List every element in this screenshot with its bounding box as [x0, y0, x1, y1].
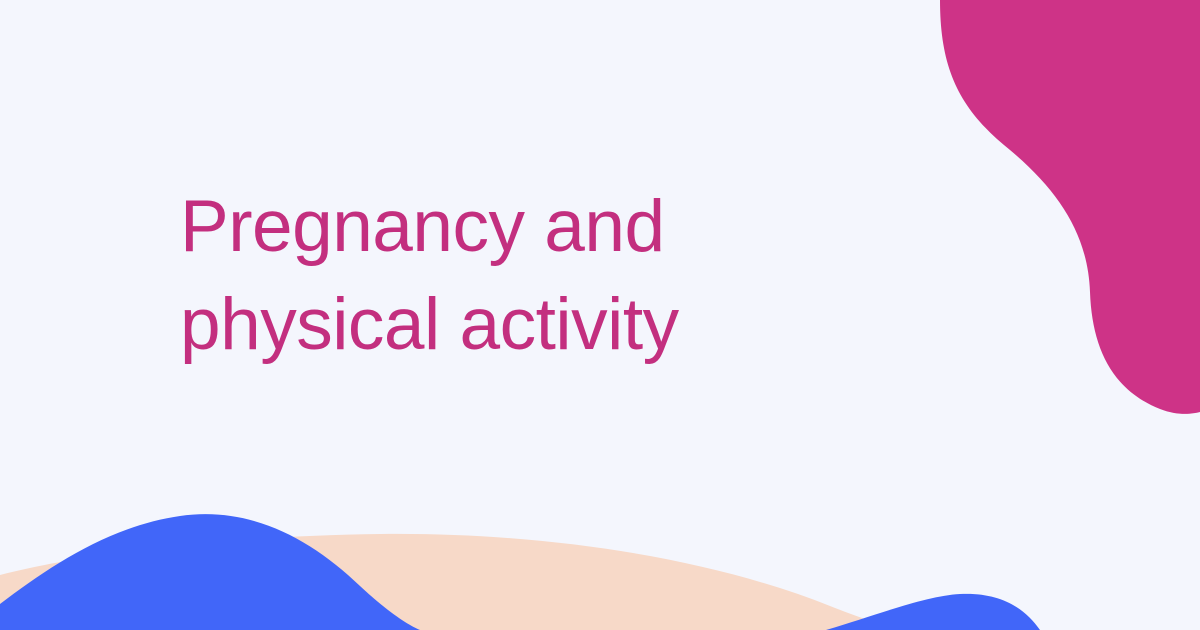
- blue-blob-bottom-right: [826, 594, 1040, 630]
- title-block: Pregnancy and physical activity: [180, 178, 840, 374]
- page-title: Pregnancy and physical activity: [180, 178, 840, 374]
- pink-blob-top-right: [940, 0, 1200, 414]
- social-share-card: Pregnancy and physical activity: [0, 0, 1200, 630]
